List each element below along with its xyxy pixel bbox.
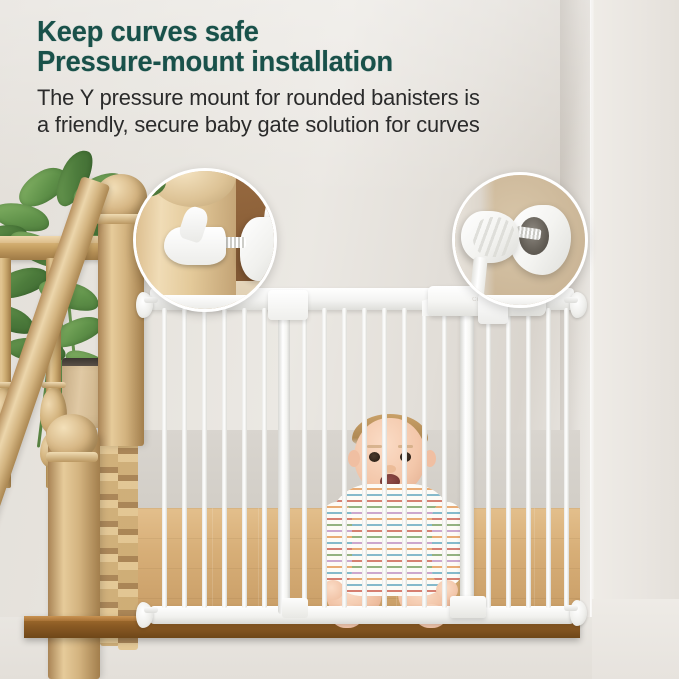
marketing-copy: Keep curves safe Pressure-mount installa…: [37, 18, 607, 138]
inset-wall-mount: [452, 172, 588, 308]
gate-door-latch-post[interactable]: [460, 304, 474, 614]
gate-bar: [162, 308, 167, 608]
mount-bolt: [564, 605, 578, 611]
gate-bar: [506, 308, 511, 608]
gate-bar: [342, 308, 347, 608]
baluster-ring: [41, 382, 66, 388]
gate-hinge-bracket: [268, 290, 308, 320]
subheadline: The Y pressure mount for rounded baniste…: [37, 84, 590, 138]
stair-riser-wall-right: [592, 599, 679, 679]
product-marketing-image: Keep curves safe Pressure-mount installa…: [0, 0, 679, 679]
gate-bar: [202, 308, 207, 608]
headline: Keep curves safe Pressure-mount installa…: [37, 18, 587, 77]
gate-door-hinge-post[interactable]: [278, 304, 290, 614]
lower-newel-post: [48, 436, 100, 679]
gate-bar: [302, 308, 307, 608]
gate-bar: [222, 308, 227, 608]
gate-bottom-bracket: [282, 598, 308, 618]
gate-bar: [242, 308, 247, 608]
gate-bar: [422, 308, 427, 608]
inset-mount-body: [240, 217, 277, 281]
subheadline-line-2: a friendly, secure baby gate solution fo…: [37, 111, 590, 138]
gate-bar: [564, 308, 569, 608]
gate-bar: [526, 308, 531, 608]
gate-bar: [182, 308, 187, 608]
subheadline-line-1: The Y pressure mount for rounded baniste…: [37, 85, 480, 110]
gate-bar: [382, 308, 387, 608]
gate-bar: [262, 308, 267, 608]
lower-newel-collar: [46, 452, 98, 462]
gate-bar: [322, 308, 327, 608]
gate-bar: [442, 308, 447, 608]
inset-knob-grip-ridges: [473, 217, 515, 257]
inset-banister-mount: [133, 168, 277, 312]
headline-line-1: Keep curves safe: [37, 16, 259, 48]
baby-gate: Cumbor: [150, 288, 580, 633]
gate-bottom-catch: [450, 596, 486, 618]
gate-bar: [486, 308, 491, 608]
gate-bar: [402, 308, 407, 608]
gate-bottom-rail: [150, 606, 574, 624]
gate-bar: [362, 308, 367, 608]
mount-bolt: [144, 607, 158, 613]
headline-line-2: Pressure-mount installation: [37, 48, 587, 78]
mount-cup-bottom-left: [136, 602, 153, 628]
gate-bar: [546, 308, 551, 608]
